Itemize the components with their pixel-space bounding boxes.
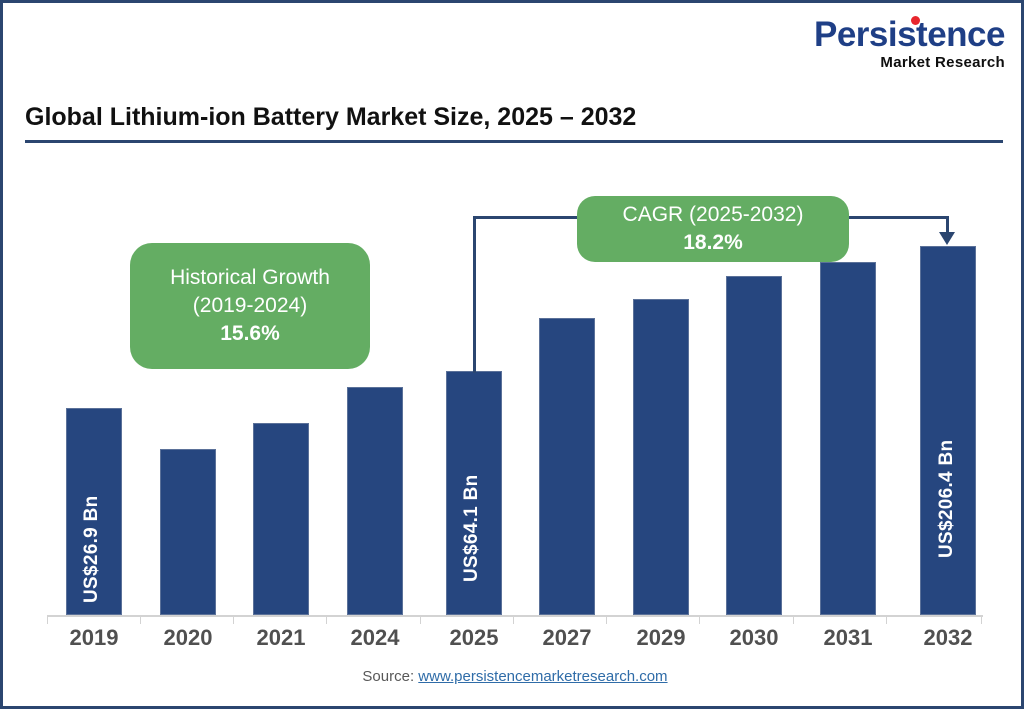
x-axis-tick (606, 615, 607, 624)
cagr-connector-left-horizontal (473, 216, 583, 219)
x-axis-label-2020: 2020 (141, 625, 235, 651)
cagr-connector-right-horizontal (843, 216, 949, 219)
bar-2024[interactable] (347, 387, 403, 615)
x-axis-line (47, 615, 983, 617)
bar-2032[interactable] (920, 246, 976, 615)
cagr-line1: CAGR (2025-2032) (623, 201, 804, 229)
bar-value-label-2019: US$26.9 Bn (81, 495, 103, 603)
x-axis-tick (513, 615, 514, 624)
x-axis-label-2032: 2032 (901, 625, 995, 651)
chart-page: Persistence Market Research Global Lithi… (0, 0, 1024, 709)
historical-growth-line2: (2019-2024) (193, 292, 307, 320)
historical-growth-callout: Historical Growth (2019-2024) 15.6% (130, 243, 370, 369)
bar-2020[interactable] (160, 449, 216, 615)
cagr-callout: CAGR (2025-2032) 18.2% (577, 196, 849, 262)
x-axis-tick (793, 615, 794, 624)
source-link[interactable]: www.persistencemarketresearch.com (418, 668, 667, 685)
bar-2031[interactable] (820, 262, 876, 615)
x-axis-tick (326, 615, 327, 624)
source-prefix: Source: (362, 668, 418, 685)
bar-2029[interactable] (633, 299, 689, 615)
x-axis-label-2024: 2024 (328, 625, 422, 651)
x-axis-tick (886, 615, 887, 624)
cagr-value: 18.2% (683, 229, 743, 257)
x-axis-tick (420, 615, 421, 624)
bar-value-label-2032: US$206.4 Bn (936, 440, 958, 558)
x-axis-label-2021: 2021 (234, 625, 328, 651)
cagr-connector-left-vertical (473, 216, 476, 373)
historical-growth-line1: Historical Growth (170, 264, 330, 292)
x-axis-label-2025: 2025 (427, 625, 521, 651)
chart-plot-area: US$26.9 Bn US$64.1 Bn US$206.4 Bn 2019 2… (3, 3, 1024, 709)
bar-2021[interactable] (253, 423, 309, 615)
x-axis-tick (233, 615, 234, 624)
x-axis-tick (699, 615, 700, 624)
x-axis-label-2031: 2031 (801, 625, 895, 651)
historical-growth-value: 15.6% (220, 320, 280, 348)
x-axis-label-2030: 2030 (707, 625, 801, 651)
bar-2030[interactable] (726, 276, 782, 615)
bar-2027[interactable] (539, 318, 595, 615)
cagr-arrow-down-icon (939, 232, 955, 245)
x-axis-label-2019: 2019 (47, 625, 141, 651)
x-axis-tick (47, 615, 48, 624)
x-axis-label-2027: 2027 (520, 625, 614, 651)
source-note: Source: www.persistencemarketresearch.co… (3, 668, 1024, 685)
x-axis-tick (981, 615, 982, 624)
x-axis-label-2029: 2029 (614, 625, 708, 651)
bar-value-label-2025: US$64.1 Bn (461, 474, 483, 582)
x-axis-tick (140, 615, 141, 624)
